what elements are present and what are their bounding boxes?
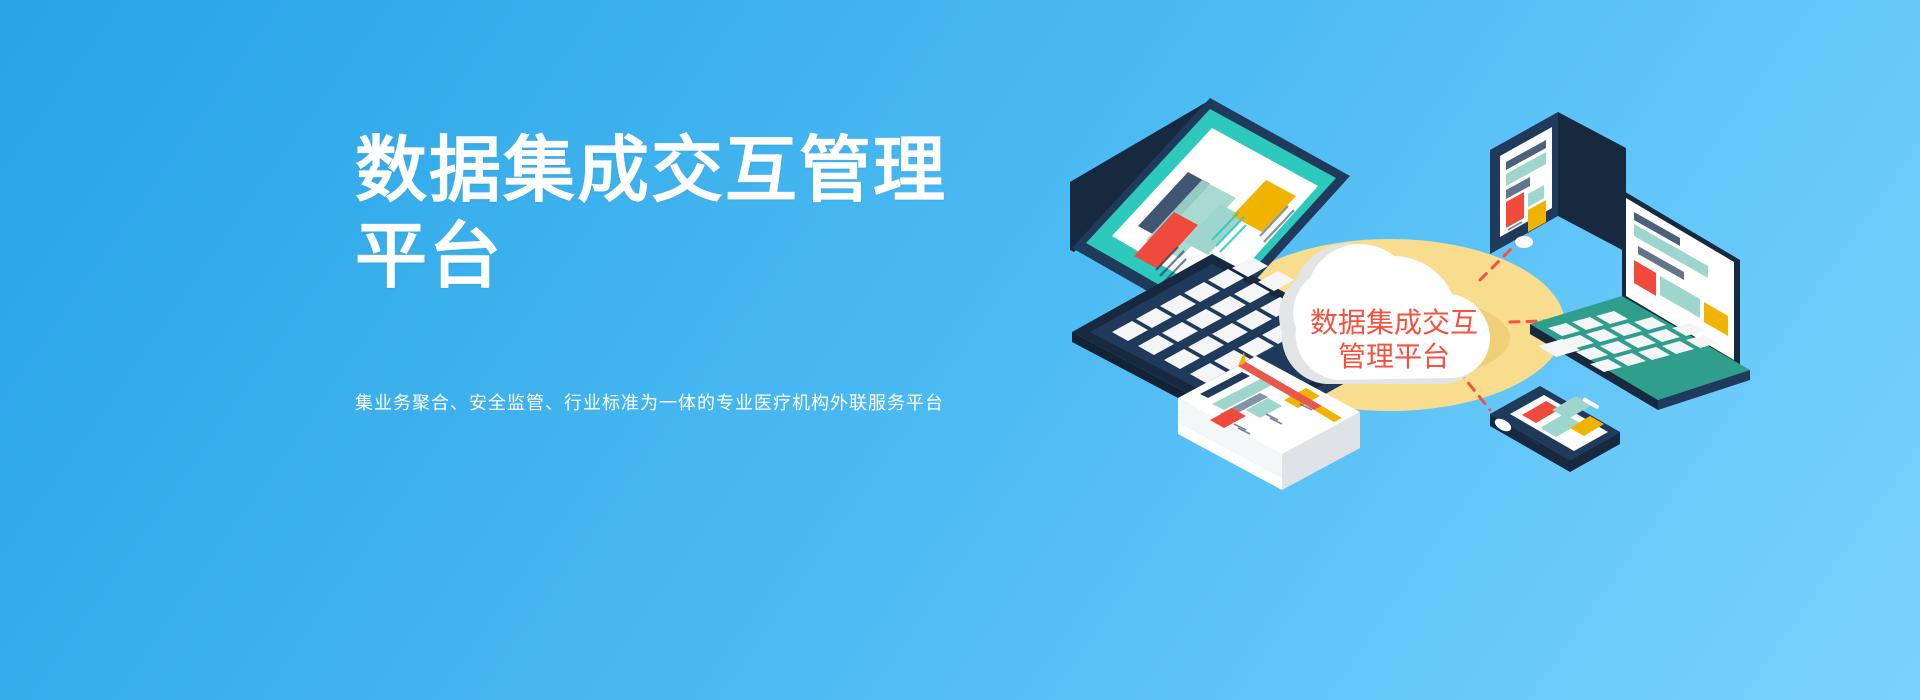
cloud-label-line1: 数据集成交互 [1310, 307, 1478, 338]
hero-illustration: 数据集成交互 管理平台 [1060, 70, 1880, 630]
page-subtitle: 集业务聚合、安全监管、行业标准为一体的专业医疗机构外联服务平台 [355, 390, 944, 416]
hero-text-block: 数据集成交互管理平台 集业务聚合、安全监管、行业标准为一体的专业医疗机构外联服务… [355, 128, 1015, 300]
device-laptop-right [1530, 190, 1750, 410]
hero-banner: 数据集成交互管理平台 集业务聚合、安全监管、行业标准为一体的专业医疗机构外联服务… [0, 0, 1920, 700]
device-tablet [1490, 112, 1626, 254]
cloud-label-line2: 管理平台 [1338, 341, 1450, 372]
device-smartphone [1490, 386, 1620, 472]
page-title: 数据集成交互管理平台 [355, 128, 1015, 300]
